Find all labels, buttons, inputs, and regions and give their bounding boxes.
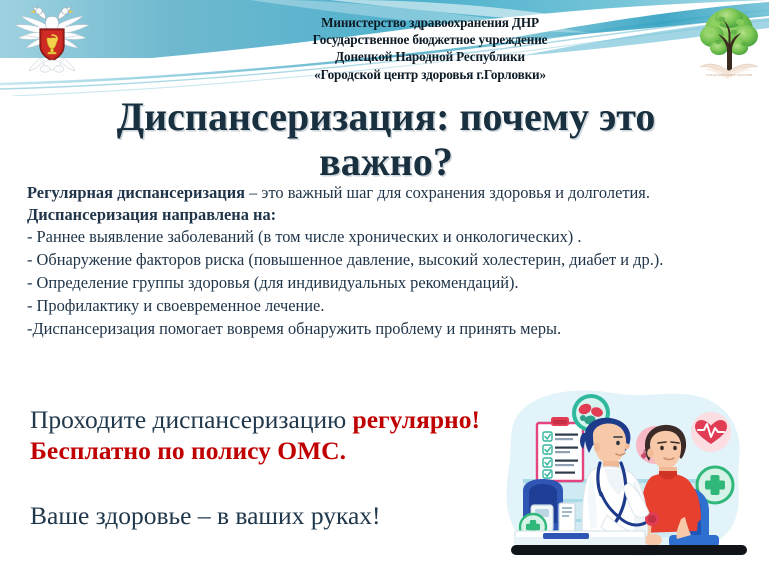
list-item: - Определение группы здоровья (для индив… [27,271,739,294]
call-to-action-block: Проходите диспансеризацию регулярно! Бес… [30,404,500,466]
cta-line-1: Проходите диспансеризацию регулярно! [30,404,500,435]
list-item: - Обнаружение факторов риска (повышенное… [27,248,739,271]
list-item: -Диспансеризация помогает вовремя обнару… [27,317,739,340]
header-line-3: Донецкой Народной Республики [215,48,645,65]
cta-line-2: Бесплатно по полису ОМС. [30,435,500,466]
list-item: - Профилактику и своевременное лечение. [27,294,739,317]
header-line-4: «Городской центр здоровья г.Горловки» [215,66,645,83]
floor-baseline [511,545,747,555]
dnr-emblem-eagle-icon [9,2,95,82]
desk-counter [515,531,645,545]
heartbeat-icon [691,412,731,452]
intro-bold-phrase: Регулярная диспансеризация [27,183,245,202]
body-content: Регулярная диспансеризация – это важный … [27,182,739,340]
intro-rest-phrase: – это важный шаг для сохранения здоровья… [245,183,650,202]
header-line-1: Министерство здравоохранения ДНР [215,14,645,31]
header-line-2: Государственное бюджетное учреждение [215,31,645,48]
closing-slogan: Ваше здоровье – в ваших руках! [30,500,381,531]
cta-highlight-text: регулярно! [353,405,480,434]
cta-plain-text: Проходите диспансеризацию [30,405,353,434]
page-title: Диспансеризация: почему это важно? [48,94,724,184]
intro-paragraph: Регулярная диспансеризация – это важный … [27,182,739,204]
doctor-examining-patient-illustration [487,387,769,563]
green-tree-health-center-icon: ГОРОДСКОЙ ЦЕНТР ЗДОРОВЬЯ [692,4,766,90]
organization-header-text: Министерство здравоохранения ДНР Государ… [215,14,645,83]
header-banner: Министерство здравоохранения ДНР Государ… [0,0,769,96]
body-subheading: Диспансеризация направлена на: [27,204,739,226]
health-poster: Министерство здравоохранения ДНР Государ… [0,0,769,569]
list-item: - Раннее выявление заболеваний (в том чи… [27,225,739,248]
checklist-clipboard-icon [537,417,583,481]
svg-text:ГОРОДСКОЙ ЦЕНТР ЗДОРОВЬЯ: ГОРОДСКОЙ ЦЕНТР ЗДОРОВЬЯ [706,72,754,77]
